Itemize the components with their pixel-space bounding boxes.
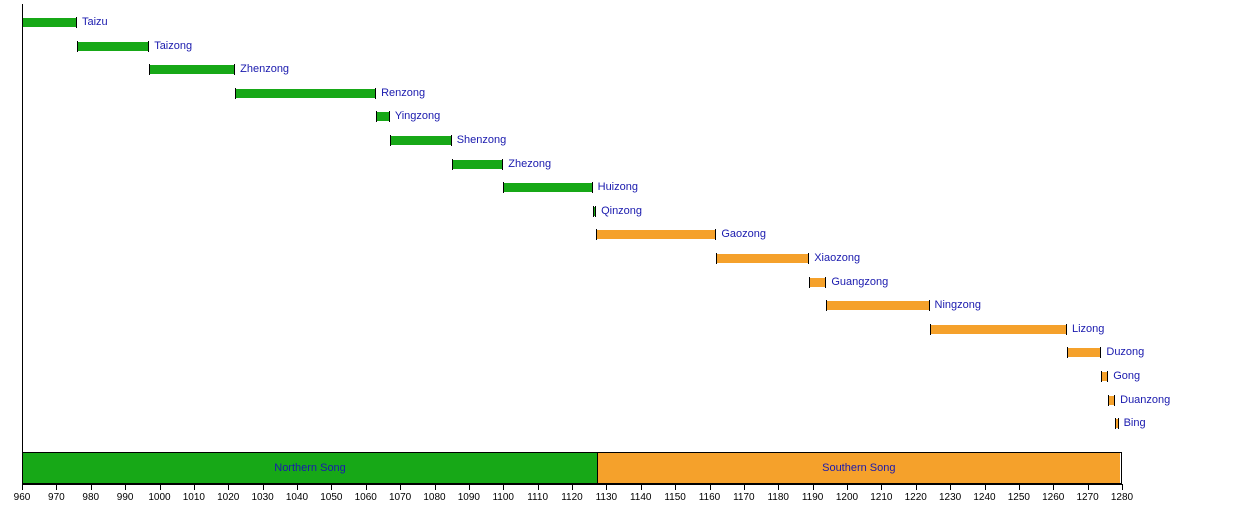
reign-bar-start-cap bbox=[452, 159, 453, 170]
x-axis-tick-label: 1050 bbox=[320, 492, 342, 503]
x-axis-tick bbox=[572, 484, 573, 490]
x-axis-tick-label: 1170 bbox=[733, 492, 755, 503]
reign-bar-end-cap bbox=[595, 206, 596, 217]
x-axis-tick bbox=[744, 484, 745, 490]
dynasty-period-band: Northern SongSouthern Song bbox=[22, 452, 1122, 484]
x-axis-tick bbox=[606, 484, 607, 490]
reign-bar-label: Zhenzong bbox=[240, 60, 289, 79]
x-axis-tick bbox=[813, 484, 814, 490]
x-axis-tick bbox=[160, 484, 161, 490]
x-axis-tick-label: 1270 bbox=[1077, 492, 1099, 503]
x-axis-tick-label: 1110 bbox=[527, 492, 548, 503]
reign-bar: Qinzong bbox=[593, 207, 596, 216]
reign-bar-start-cap bbox=[593, 206, 594, 217]
x-axis-tick bbox=[710, 484, 711, 490]
reign-bar: Zhenzong bbox=[149, 65, 235, 74]
x-axis-tick-label: 1010 bbox=[183, 492, 205, 503]
reign-bar-label: Ningzong bbox=[935, 296, 981, 315]
x-axis-tick bbox=[366, 484, 367, 490]
reign-bar-end-cap bbox=[1107, 371, 1108, 382]
x-axis-tick bbox=[56, 484, 57, 490]
x-axis-tick-label: 1230 bbox=[939, 492, 961, 503]
x-axis-tick bbox=[881, 484, 882, 490]
x-axis-tick bbox=[503, 484, 504, 490]
x-axis-tick-label: 1210 bbox=[870, 492, 892, 503]
x-axis-tick-label: 1020 bbox=[217, 492, 239, 503]
reign-bar-end-cap bbox=[825, 277, 826, 288]
reign-bar-start-cap bbox=[376, 111, 377, 122]
x-axis-tick bbox=[675, 484, 676, 490]
reign-bar-start-cap bbox=[596, 229, 597, 240]
reign-bar-label: Bing bbox=[1124, 414, 1146, 433]
reign-bar-end-cap bbox=[389, 111, 390, 122]
x-axis-tick-label: 1000 bbox=[148, 492, 170, 503]
reign-bar: Duzong bbox=[1067, 348, 1101, 357]
dynasty-segment-northern-song: Northern Song bbox=[23, 453, 597, 483]
reign-bar-start-cap bbox=[149, 64, 150, 75]
x-axis-tick bbox=[538, 484, 539, 490]
reign-bar-label: Xiaozong bbox=[814, 249, 860, 268]
reign-bar: Taizong bbox=[77, 42, 149, 51]
x-axis-tick-label: 1180 bbox=[767, 492, 789, 503]
reign-bar-label: Taizong bbox=[154, 37, 192, 56]
x-axis-tick-label: 990 bbox=[117, 492, 134, 503]
reign-bar-end-cap bbox=[1066, 324, 1067, 335]
reign-bar-label: Lizong bbox=[1072, 320, 1104, 339]
x-axis-tick bbox=[1019, 484, 1020, 490]
y-axis-line bbox=[22, 4, 23, 452]
x-axis-tick bbox=[847, 484, 848, 490]
reign-bar-end-cap bbox=[234, 64, 235, 75]
reign-bar-end-cap bbox=[592, 182, 593, 193]
x-axis-tick bbox=[297, 484, 298, 490]
reign-bar-start-cap bbox=[22, 17, 23, 28]
reign-bar-label: Gong bbox=[1113, 367, 1140, 386]
x-axis-tick bbox=[1122, 484, 1123, 490]
x-axis-tick-label: 1150 bbox=[664, 492, 686, 503]
reign-bar: Taizu bbox=[22, 18, 77, 27]
x-axis-tick bbox=[194, 484, 195, 490]
reign-bar-label: Duanzong bbox=[1120, 391, 1170, 410]
x-axis-tick bbox=[778, 484, 779, 490]
reign-bar-end-cap bbox=[715, 229, 716, 240]
reign-bar: Yingzong bbox=[376, 112, 390, 121]
reign-bar-end-cap bbox=[148, 41, 149, 52]
reign-bar: Lizong bbox=[930, 325, 1068, 334]
reign-bar-end-cap bbox=[1100, 347, 1101, 358]
x-axis-tick bbox=[125, 484, 126, 490]
x-axis-tick bbox=[331, 484, 332, 490]
x-axis-tick bbox=[263, 484, 264, 490]
reign-bar-start-cap bbox=[1101, 371, 1102, 382]
reign-bar: Renzong bbox=[235, 89, 376, 98]
x-axis-tick bbox=[435, 484, 436, 490]
x-axis-tick-label: 1220 bbox=[905, 492, 927, 503]
reign-bar-label: Yingzong bbox=[395, 107, 440, 126]
x-axis-tick-label: 1240 bbox=[973, 492, 995, 503]
x-axis-tick-label: 980 bbox=[82, 492, 99, 503]
x-axis-tick bbox=[91, 484, 92, 490]
reign-bar: Duanzong bbox=[1108, 396, 1115, 405]
x-axis-tick bbox=[469, 484, 470, 490]
reign-bar-end-cap bbox=[808, 253, 809, 264]
reign-bar-label: Shenzong bbox=[457, 131, 507, 150]
x-axis-tick bbox=[985, 484, 986, 490]
x-axis-tick-label: 1030 bbox=[252, 492, 274, 503]
x-axis-tick-label: 1190 bbox=[802, 492, 824, 503]
reign-bar-start-cap bbox=[716, 253, 717, 264]
reign-bar-start-cap bbox=[77, 41, 78, 52]
x-axis-tick-label: 1040 bbox=[286, 492, 308, 503]
reign-bar-end-cap bbox=[375, 88, 376, 99]
x-axis-tick-label: 970 bbox=[48, 492, 65, 503]
reign-bar-label: Zhezong bbox=[508, 155, 551, 174]
x-axis-tick bbox=[641, 484, 642, 490]
reign-bar: Ningzong bbox=[826, 301, 929, 310]
reign-bar-start-cap bbox=[826, 300, 827, 311]
reign-bar-start-cap bbox=[503, 182, 504, 193]
reign-bar: Gaozong bbox=[596, 230, 716, 239]
x-axis-tick bbox=[1053, 484, 1054, 490]
reign-bar-start-cap bbox=[1108, 395, 1109, 406]
x-axis-tick-label: 1080 bbox=[423, 492, 445, 503]
dynasty-segment-southern-song: Southern Song bbox=[597, 453, 1120, 483]
x-axis-tick bbox=[950, 484, 951, 490]
x-axis-tick bbox=[916, 484, 917, 490]
reign-bar-label: Renzong bbox=[381, 84, 425, 103]
x-axis-tick-label: 960 bbox=[14, 492, 31, 503]
reign-bar-end-cap bbox=[502, 159, 503, 170]
reign-bar-label: Guangzong bbox=[831, 273, 888, 292]
x-axis-tick-label: 1260 bbox=[1042, 492, 1064, 503]
reign-bar-end-cap bbox=[451, 135, 452, 146]
x-axis-tick bbox=[22, 484, 23, 490]
x-axis-tick-label: 1250 bbox=[1008, 492, 1030, 503]
reign-bar-start-cap bbox=[809, 277, 810, 288]
x-axis-tick-label: 1120 bbox=[561, 492, 583, 503]
reign-bar: Shenzong bbox=[390, 136, 452, 145]
reign-bar-end-cap bbox=[1114, 395, 1115, 406]
reign-bar-end-cap bbox=[929, 300, 930, 311]
reign-bar-label: Qinzong bbox=[601, 202, 642, 221]
reign-bar-label: Taizu bbox=[82, 13, 108, 32]
x-axis-tick-label: 1070 bbox=[389, 492, 411, 503]
song-dynasty-emperor-timeline: TaizuTaizongZhenzongRenzongYingzongShenz… bbox=[0, 0, 1250, 515]
x-axis-tick-label: 1140 bbox=[630, 492, 652, 503]
reign-bar-start-cap bbox=[930, 324, 931, 335]
reign-bar: Guangzong bbox=[809, 278, 826, 287]
x-axis-tick-label: 1160 bbox=[699, 492, 721, 503]
x-axis-tick-label: 1100 bbox=[492, 492, 514, 503]
reign-bar-start-cap bbox=[235, 88, 236, 99]
x-axis-tick-label: 1060 bbox=[355, 492, 377, 503]
reign-bar: Xiaozong bbox=[716, 254, 809, 263]
x-axis-tick-label: 1090 bbox=[458, 492, 480, 503]
x-axis-tick bbox=[1088, 484, 1089, 490]
reign-bar-label: Huizong bbox=[598, 178, 638, 197]
reign-bar-start-cap bbox=[1067, 347, 1068, 358]
reign-bar-label: Duzong bbox=[1106, 343, 1144, 362]
x-axis-tick bbox=[228, 484, 229, 490]
reign-bar-label: Gaozong bbox=[721, 225, 766, 244]
reign-bar-start-cap bbox=[1115, 418, 1116, 429]
reign-bar: Gong bbox=[1101, 372, 1108, 381]
x-axis-tick bbox=[400, 484, 401, 490]
x-axis-tick-label: 1130 bbox=[596, 492, 618, 503]
reign-bar-start-cap bbox=[390, 135, 391, 146]
x-axis-tick-label: 1280 bbox=[1111, 492, 1133, 503]
reign-bar: Bing bbox=[1115, 419, 1118, 428]
reign-bar-end-cap bbox=[1118, 418, 1119, 429]
x-axis-tick-label: 1200 bbox=[836, 492, 858, 503]
reign-bar: Zhezong bbox=[452, 160, 504, 169]
reign-bar-end-cap bbox=[76, 17, 77, 28]
reign-bar: Huizong bbox=[503, 183, 592, 192]
